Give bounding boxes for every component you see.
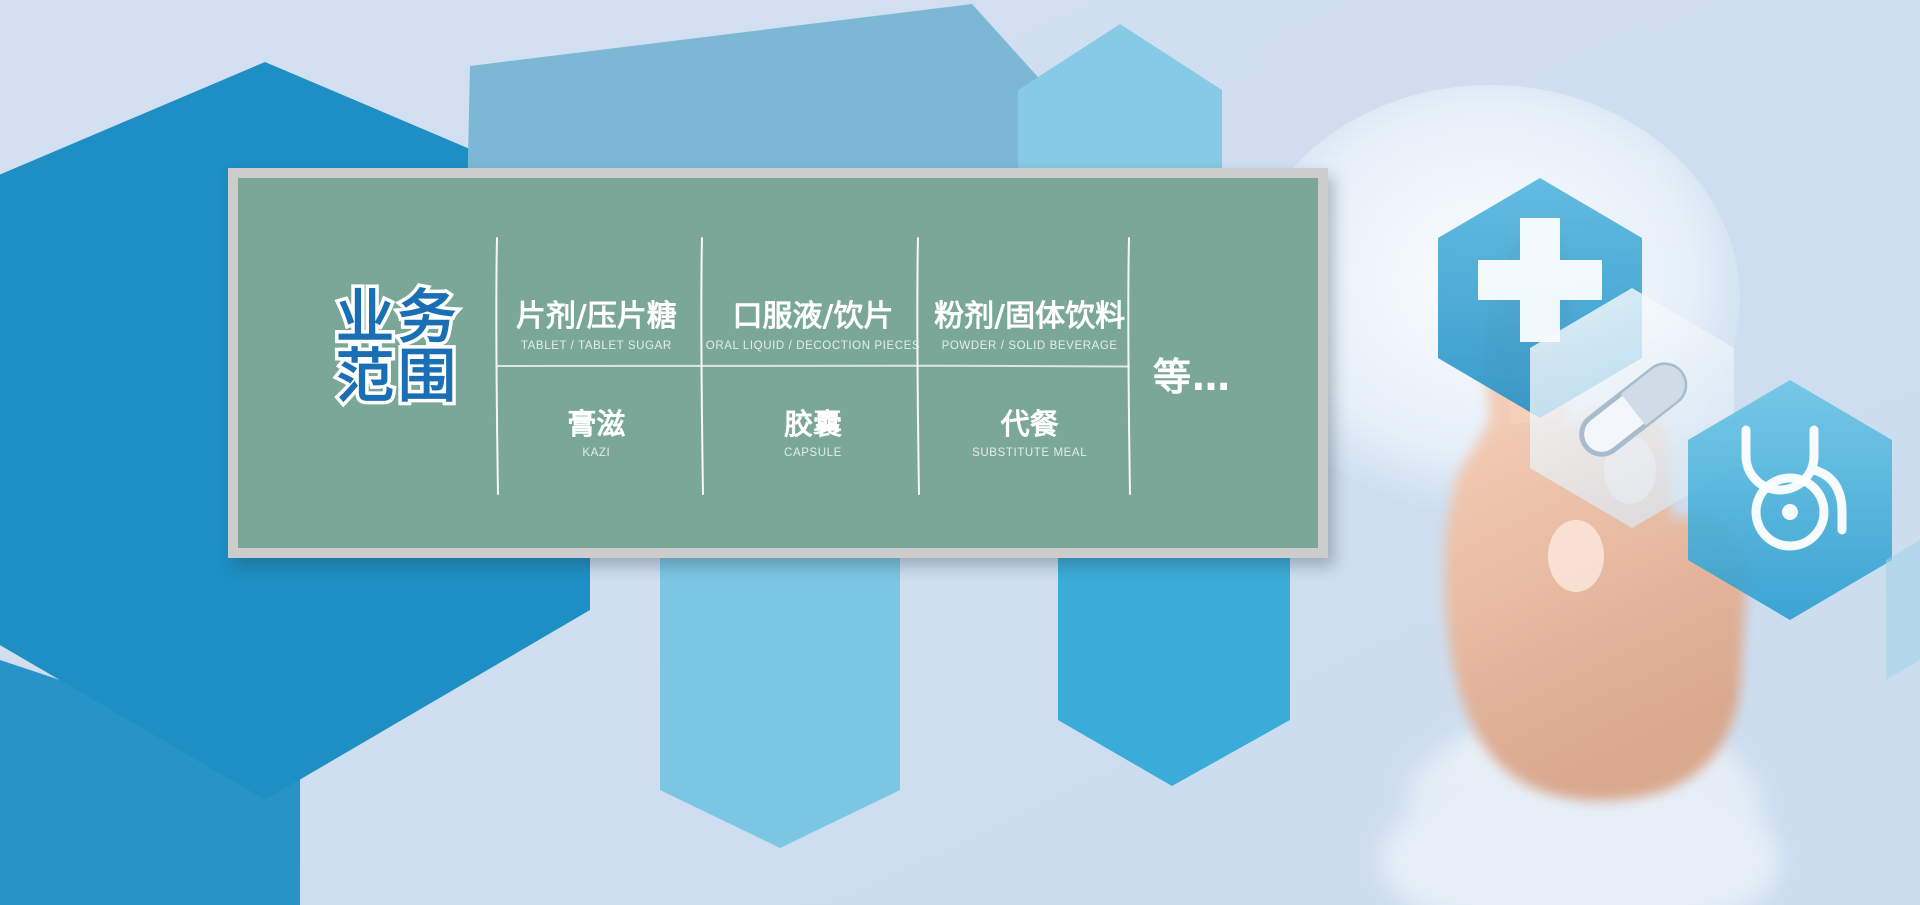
business-item-label-en: ORAL LIQUID / DECOCTION PIECES [706, 340, 920, 352]
business-scope-panel: 业务 范围 片剂/压片糖 TABLET / TABLET SUGA [238, 178, 1318, 548]
business-item-tablet[interactable]: 片剂/压片糖 TABLET / TABLET SUGAR [488, 236, 705, 366]
business-item-label-cn: 粉剂/固体饮料 [934, 300, 1125, 333]
business-item-substitute-meal[interactable]: 代餐 SUBSTITUTE MEAL [921, 366, 1138, 496]
business-item-label-en: POWDER / SOLID BEVERAGE [942, 340, 1118, 352]
business-item-label-cn: 胶囊 [784, 409, 842, 441]
business-item-kazi[interactable]: 膏滋 KAZI [488, 366, 705, 496]
business-item-label-en: SUBSTITUTE MEAL [972, 447, 1087, 459]
business-item-oral-liquid[interactable]: 口服液/饮片 ORAL LIQUID / DECOCTION PIECES [705, 236, 922, 366]
business-item-label-en: TABLET / TABLET SUGAR [521, 340, 672, 352]
business-item-label-cn: 膏滋 [567, 409, 625, 441]
business-item-label-en: CAPSULE [784, 447, 842, 459]
business-item-label-cn: 口服液/饮片 [733, 300, 894, 333]
page-title: 业务 范围 [308, 288, 488, 406]
business-item-label-cn: 代餐 [1001, 409, 1059, 441]
business-item-label-cn: 片剂/压片糖 [516, 300, 677, 333]
business-scope-cells: 片剂/压片糖 TABLET / TABLET SUGAR 口服液/饮片 ORAL… [488, 236, 1138, 496]
hexagon-shape-edge-right [1886, 540, 1920, 680]
banner-stage: 业务 范围 片剂/压片糖 TABLET / TABLET SUGA [0, 0, 1920, 905]
business-scope-card: 业务 范围 片剂/压片糖 TABLET / TABLET SUGA [228, 168, 1328, 558]
business-scope-grid: 片剂/压片糖 TABLET / TABLET SUGAR 口服液/饮片 ORAL… [488, 236, 1138, 496]
business-item-capsule[interactable]: 胶囊 CAPSULE [705, 366, 922, 496]
business-scope-more-label: 等… [1153, 346, 1231, 401]
business-item-label-en: KAZI [582, 447, 610, 459]
business-item-powder[interactable]: 粉剂/固体饮料 POWDER / SOLID BEVERAGE [921, 236, 1138, 366]
